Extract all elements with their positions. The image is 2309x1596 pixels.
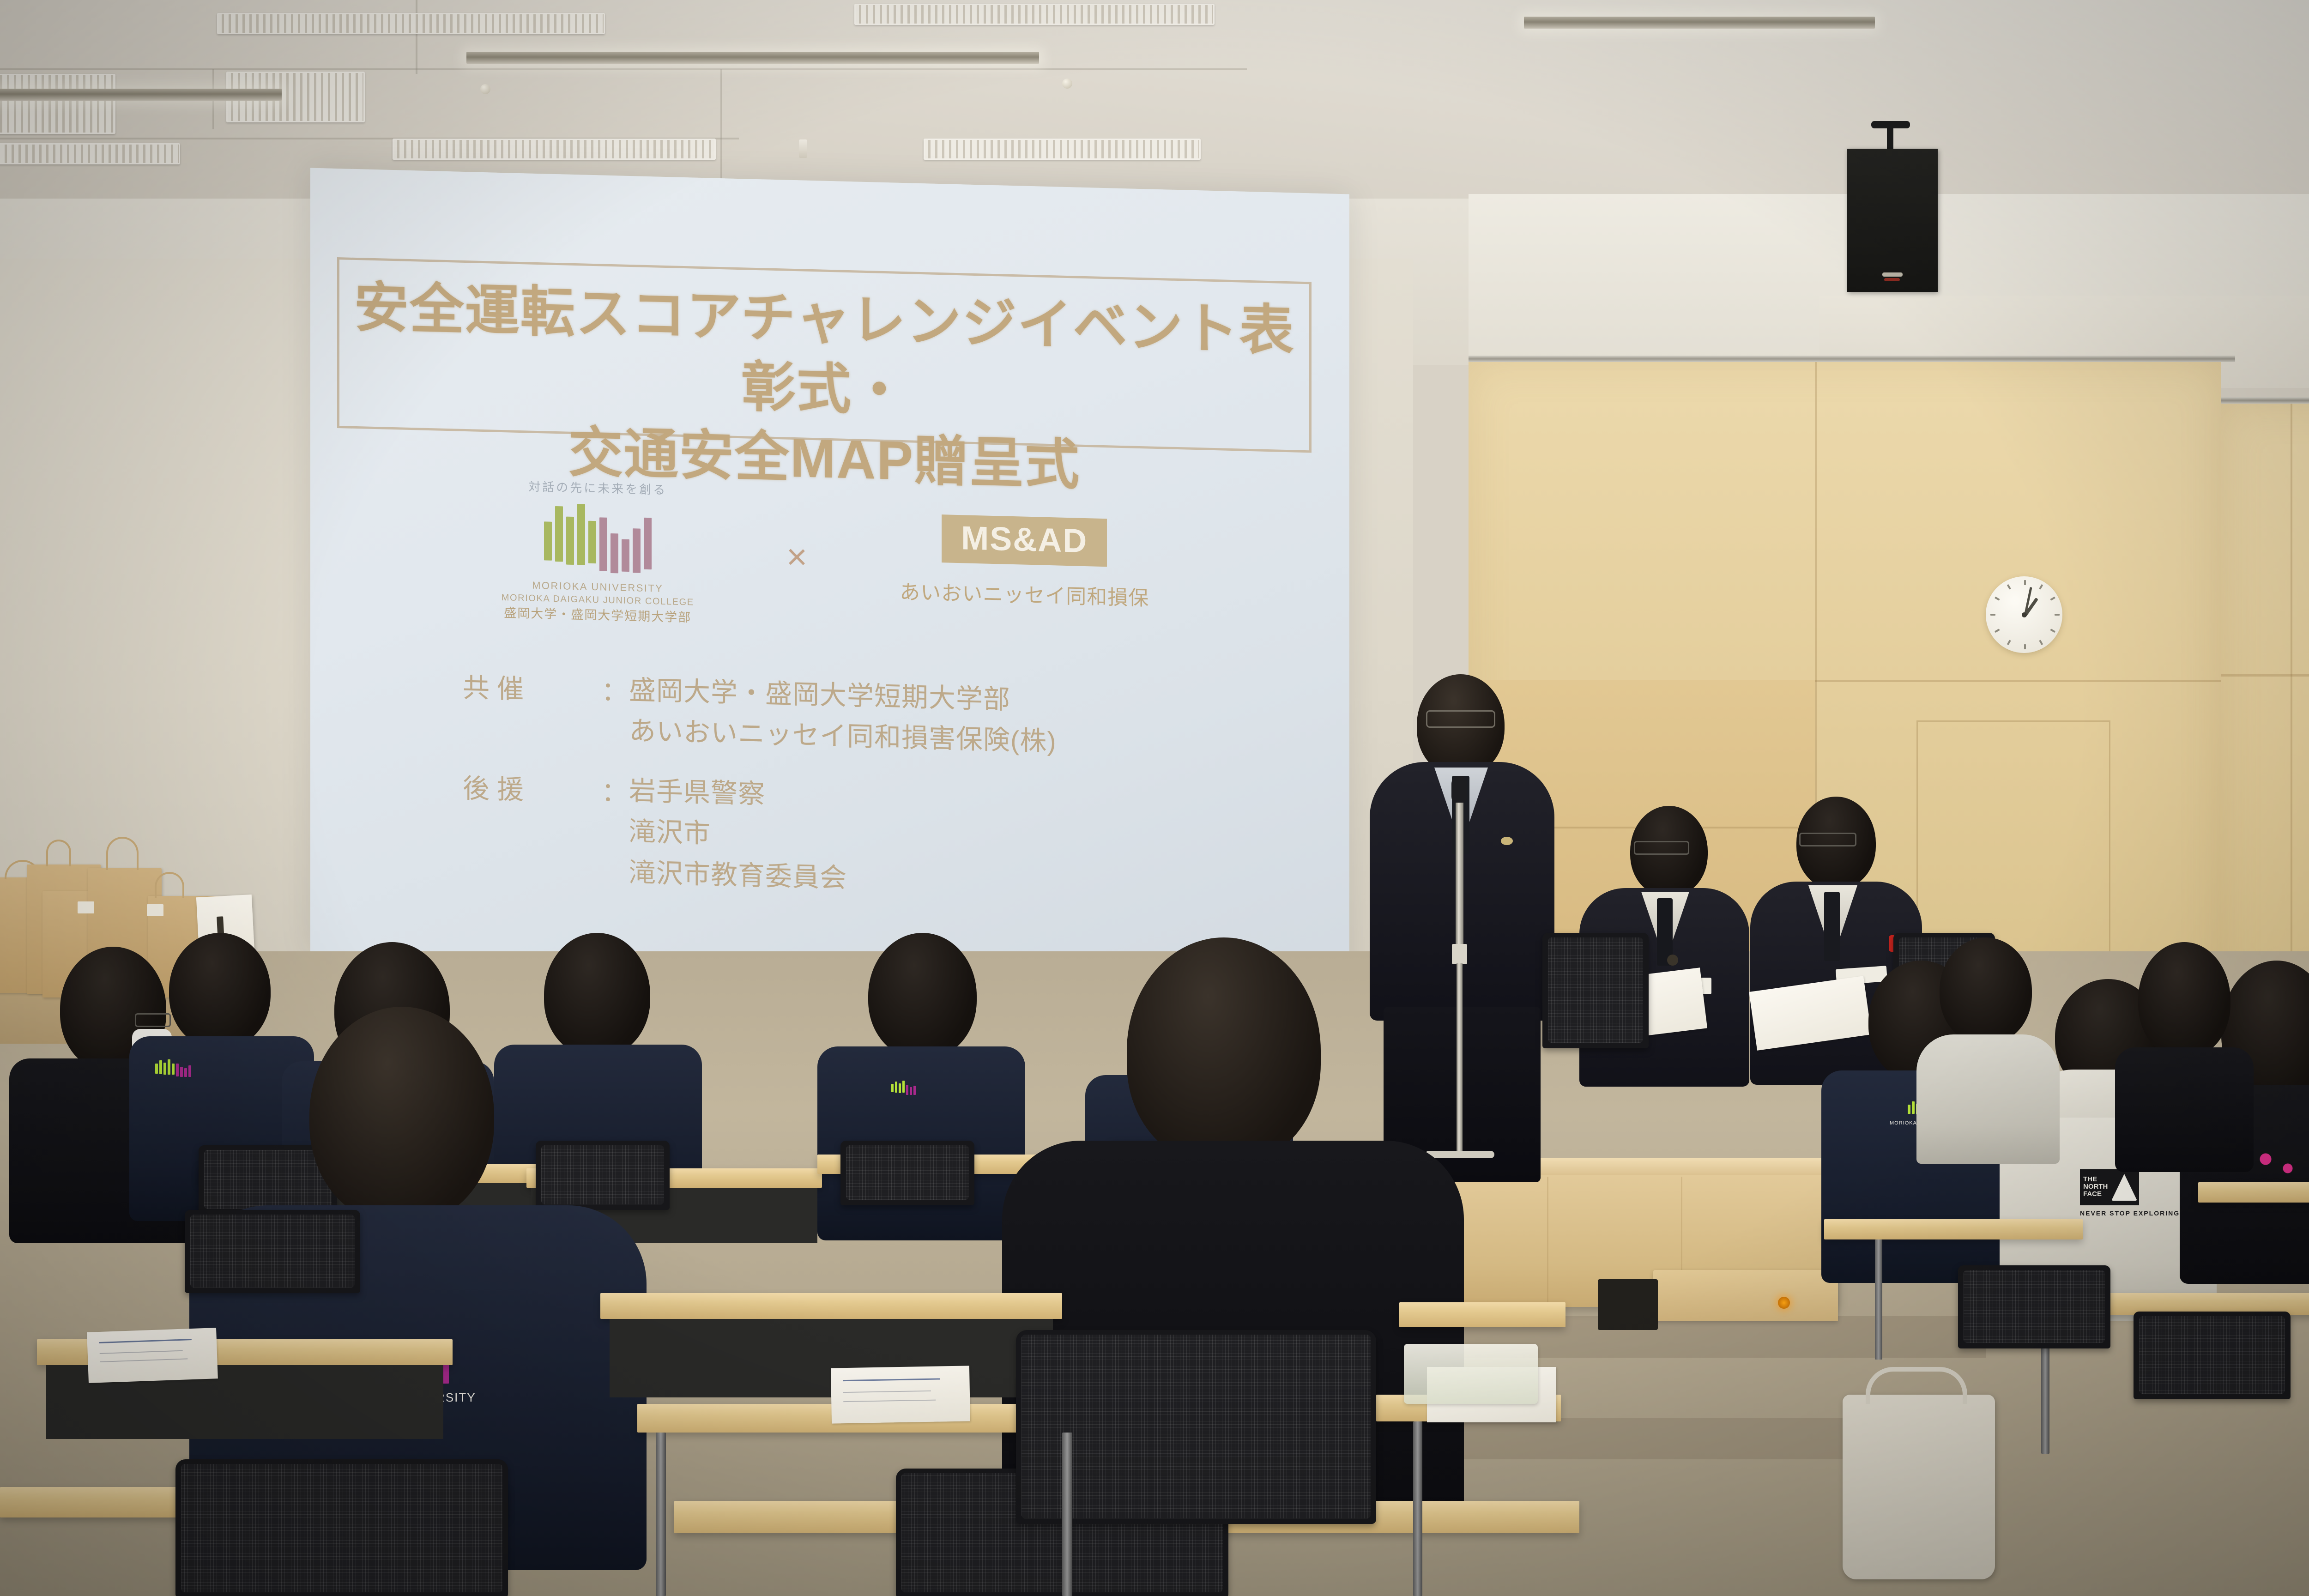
microphone-pole [1457,963,1463,1157]
desk [600,1293,1062,1319]
north-face-logo-icon: THENORTHFACE [2080,1169,2139,1205]
wall-clock-icon [1986,576,2062,653]
desk [2198,1182,2309,1203]
lapel-pin-icon [1667,955,1678,966]
official-necktie [1824,892,1840,961]
university-logo-bars-icon [891,1081,916,1095]
desk-leg [1062,1433,1072,1596]
handout-paper[interactable] [87,1328,218,1383]
person-head [2138,942,2230,1058]
brand-word-2: NORTH [2083,1183,2108,1191]
credit-row: 共催 ： 盛岡大学・盛岡大学短期大学部 あいおいニッセイ同和損害保険(株) [463,666,1275,768]
chair[interactable] [175,1459,508,1596]
gift-bag-tag [78,901,94,913]
sprinkler-head [480,84,490,94]
credit-label: 共催 [463,666,601,751]
equipment-box [1653,1270,1838,1321]
chair[interactable] [1958,1265,2110,1348]
photo-scene: 安全運転スコアチャレンジイベント表彰式・ 交通安全MAP贈呈式 対話の先に未来を… [0,0,2309,1596]
stage-chair[interactable] [1542,933,1649,1048]
ceiling-vent [393,139,716,160]
equipment-panel [1598,1279,1658,1330]
glasses-icon [1634,841,1689,855]
university-logo-bars-icon [544,503,652,574]
counter-seam [1547,1177,1548,1307]
desk [1399,1302,1566,1327]
person-head [1940,937,2032,1044]
ceiling-fixture [799,139,807,158]
microphone-head-icon [1451,776,1467,804]
slide-logo-row: 対話の先に未来を創る MORIOKA UNIVER [338,469,1312,646]
msad-logo: MS&AD あいおいニッセイ同和損保 [900,514,1149,611]
desk [1824,1219,2083,1239]
desk-leg [1875,1239,1882,1360]
desk-leg [1413,1421,1422,1596]
wall-trim [2221,397,2309,404]
wall-trim [1469,356,2235,362]
chair[interactable] [840,1141,974,1205]
university-logo-bars-icon [155,1059,191,1077]
ceiling-light-strip [466,52,1039,64]
ceiling-vent [0,74,115,134]
slide-title-line1: 安全運転スコアチャレンジイベント表彰式・ [339,272,1309,436]
ceiling-light-strip [1524,17,1875,29]
msad-mark: MS&AD [942,514,1107,567]
ceiling-speaker-icon [1847,149,1938,292]
credit-row: 後援 ： 岩手県警察 滝沢市 滝沢市教育委員会 [463,767,1275,909]
lapel-pin-icon [1501,837,1513,845]
handout-paper[interactable] [831,1366,970,1423]
audience-member [2110,942,2249,1173]
morioka-university-logo: 対話の先に未来を創る MORIOKA UNIVER [502,477,694,627]
shirt-logo [155,1059,191,1077]
university-tagline: 対話の先に未来を創る [528,477,667,498]
ceiling-vent [924,139,1201,160]
ceiling-vent [854,4,1215,25]
brand-word-1: THE [2083,1175,2097,1183]
slide-credits: 共催 ： 盛岡大学・盛岡大学短期大学部 あいおいニッセイ同和損害保険(株) 後援… [463,666,1275,913]
north-face-badge: THENORTHFACE NEVER STOP EXPLORING [2080,1169,2180,1217]
glasses-icon [1799,833,1856,846]
desk-leg [656,1433,666,1596]
tote-bag-handle [1866,1367,1967,1404]
credit-colon: ： [601,770,629,893]
wood-seam [2221,674,2309,677]
ceiling-light-strip [0,89,282,101]
wood-seam [2291,404,2292,1013]
multiply-separator-icon: × [786,535,808,578]
power-indicator-led [1778,1297,1790,1309]
person-head [868,933,977,1058]
projection-screen: 安全運転スコアチャレンジイベント表彰式・ 交通安全MAP贈呈式 対話の先に未来を… [310,168,1349,979]
speaker-mount-pole [1887,124,1893,151]
hoodie-graphic [2249,1141,2304,1187]
wood-wall-panel [2221,404,2309,1013]
ceiling-seam [416,0,417,74]
tote-bag[interactable] [1843,1395,1995,1579]
audience-member [1912,937,2060,1159]
slide-title-box: 安全運転スコアチャレンジイベント表彰式・ 交通安全MAP贈呈式 [337,257,1312,453]
ceiling-seam [0,68,1247,70]
credit-label: 後援 [463,767,601,892]
brand-word-3: FACE [2083,1190,2102,1198]
ceiling-vent [0,143,180,164]
speaker-vent [1882,272,1903,277]
gift-bag-tag [147,904,163,916]
clock-center-pin [2022,612,2027,617]
sprinkler-head [1062,79,1072,89]
gift-bag-handle [46,840,71,866]
person-torso [2115,1047,2254,1172]
insurer-name-jp: あいおいニッセイ同和損保 [900,575,1149,611]
glasses-icon [1426,710,1495,728]
chair[interactable] [2134,1312,2291,1399]
north-face-tagline: NEVER STOP EXPLORING [2080,1209,2180,1217]
speaker-power-led [1884,278,1900,281]
gift-bag-handle [106,837,139,870]
person-head [309,1007,494,1224]
microphone-pole [1456,803,1463,946]
person-head [1127,937,1321,1164]
chair[interactable] [185,1210,360,1293]
plastic-file-folder[interactable] [1404,1344,1538,1404]
ceiling-vent [217,13,605,34]
shirt-logo [891,1081,916,1095]
person-torso [1916,1034,2060,1164]
credit-colon: ： [601,669,629,751]
gift-bag-handle [155,872,184,898]
